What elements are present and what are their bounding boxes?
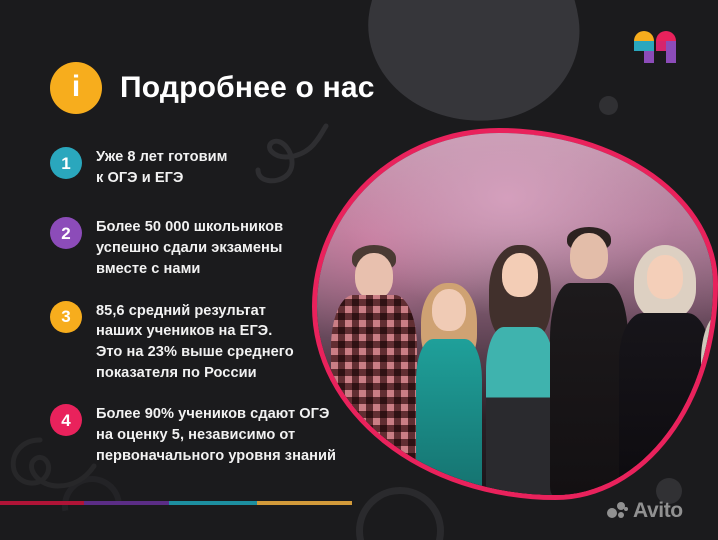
list-item-line: наших учеников на ЕГЭ. <box>96 321 294 342</box>
people-group <box>317 133 713 495</box>
list-item-text: 85,6 средний результат наших учеников на… <box>96 300 294 384</box>
avito-wordmark: Avito <box>633 500 683 521</box>
person-6 <box>699 251 718 495</box>
info-icon-glyph: i <box>72 72 80 102</box>
list-item-line: Более 90% учеников сдают ОГЭ <box>96 404 336 425</box>
list-item-line: Более 50 000 школьников <box>96 217 283 238</box>
students-photo <box>312 128 718 500</box>
avito-dots-icon <box>607 501 628 521</box>
list-item-line: Это на 23% выше среднего <box>96 342 294 363</box>
person-2 <box>413 259 485 495</box>
list-item: 2 Более 50 000 школьников успешно сдали … <box>50 216 350 279</box>
list-item-line: показателя по России <box>96 363 294 384</box>
color-bar-segment <box>0 501 84 505</box>
background-dot-small <box>599 96 618 115</box>
slide-header: i Подробнее о нас <box>50 62 375 114</box>
avito-watermark: Avito <box>607 500 683 521</box>
page-title: Подробнее о нас <box>120 71 375 105</box>
list-item-number-badge: 3 <box>50 301 82 333</box>
slide-root: i Подробнее о нас 1 Уже 8 лет готовим к … <box>0 0 718 540</box>
list-item-line: успешно сдали экзамены <box>96 238 283 259</box>
background-blob-shape <box>355 0 591 136</box>
info-icon: i <box>50 62 102 114</box>
list-item-text: Более 90% учеников сдают ОГЭ на оценку 5… <box>96 403 336 466</box>
color-bar-segment <box>84 501 168 505</box>
feature-list: 1 Уже 8 лет готовим к ОГЭ и ЕГЭ 2 Более … <box>50 146 350 467</box>
brand-logo <box>631 29 679 67</box>
list-item: 3 85,6 средний результат наших учеников … <box>50 300 350 384</box>
color-bar-segment <box>169 501 257 505</box>
person-3 <box>481 237 559 495</box>
list-item: 4 Более 90% учеников сдают ОГЭ на оценку… <box>50 403 350 466</box>
list-item: 1 Уже 8 лет готовим к ОГЭ и ЕГЭ <box>50 146 350 188</box>
list-item-line: 85,6 средний результат <box>96 301 294 322</box>
list-item-number-badge: 1 <box>50 147 82 179</box>
list-item-text: Уже 8 лет готовим к ОГЭ и ЕГЭ <box>96 146 227 188</box>
list-item-line: к ОГЭ и ЕГЭ <box>96 168 227 189</box>
list-item-line: Уже 8 лет готовим <box>96 147 227 168</box>
list-item-number-badge: 4 <box>50 404 82 436</box>
color-bar-segment <box>257 501 352 505</box>
bottom-color-bar <box>0 501 352 505</box>
list-item-line: первоначального уровня знаний <box>96 446 336 467</box>
list-item-text: Более 50 000 школьников успешно сдали эк… <box>96 216 283 279</box>
list-item-line: вместе с нами <box>96 259 283 280</box>
list-item-number-badge: 2 <box>50 217 82 249</box>
photo-image <box>317 133 713 495</box>
list-item-line: на оценку 5, независимо от <box>96 425 336 446</box>
